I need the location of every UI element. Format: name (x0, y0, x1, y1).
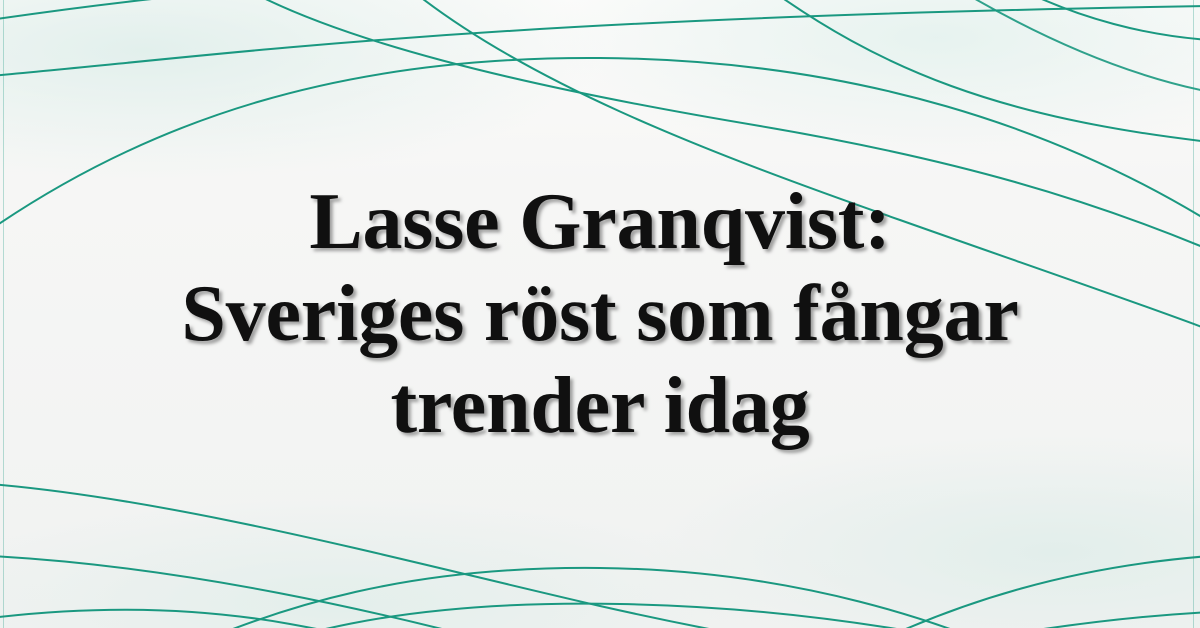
share-card: Lasse Granqvist: Sveriges röst som fånga… (0, 0, 1200, 628)
headline-container: Lasse Granqvist: Sveriges röst som fånga… (0, 0, 1200, 628)
page-title: Lasse Granqvist: Sveriges röst som fånga… (140, 176, 1060, 452)
